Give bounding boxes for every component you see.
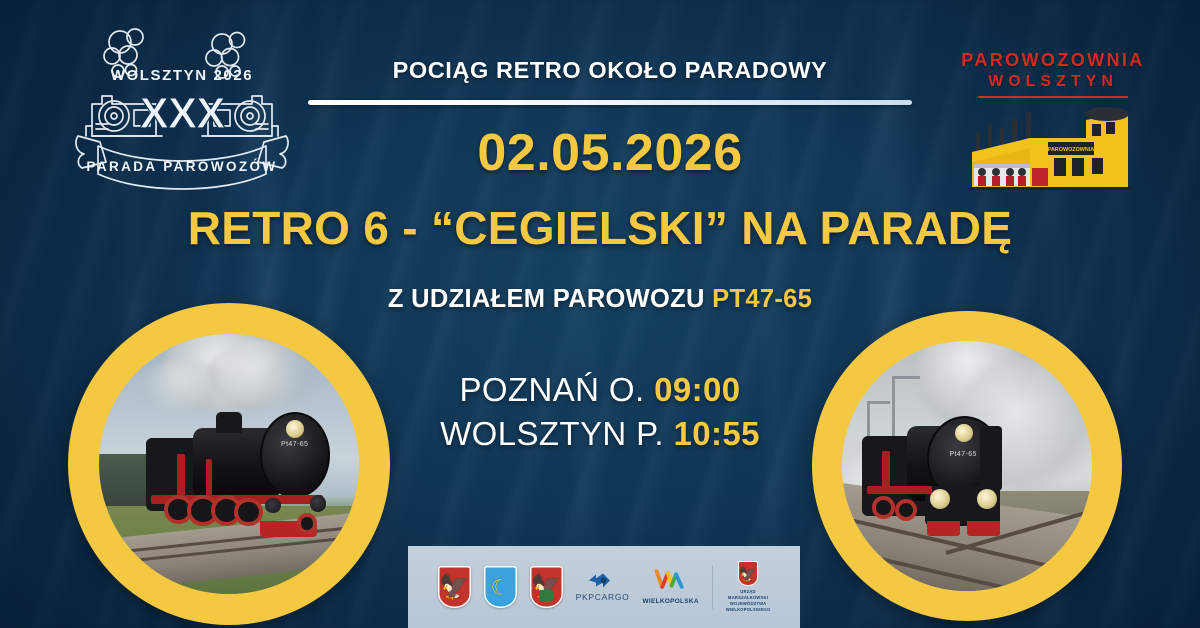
photo-plate: Pt47-65 <box>950 451 977 458</box>
photo-disc: Pt47-65 <box>842 341 1092 591</box>
parade-emblem-logo: WOLSZTYN 2026 XXX PARADA PAROWOZÓW <box>72 24 292 194</box>
poster-kicker: POCIĄG RETRO OKOŁO PARADOWY <box>300 58 920 84</box>
pkp-cargo-label: PKPCARGO <box>576 592 630 602</box>
emblem-roman-numeral: XXX <box>139 89 225 138</box>
sponsor-pkp-cargo: PKPCARGO <box>576 572 630 602</box>
shield-icon: ☾ <box>484 566 517 608</box>
timetable-time: 10:55 <box>674 415 760 452</box>
shield-icon: 🦅 <box>738 561 758 586</box>
sponsor-divider <box>712 565 713 609</box>
emblem-year-text: WOLSZTYN 2026 <box>111 67 254 84</box>
header-divider <box>308 100 912 105</box>
parowozownia-underline <box>978 96 1128 98</box>
pkp-cargo-icon <box>588 572 618 589</box>
photo-disc: Pt47-65 <box>99 334 359 594</box>
sponsor-herb-powiatu: 🦅 <box>530 566 563 608</box>
urzad-label: URZĄD MARSZAŁKOWSKI WOJEWÓDZTWA WIELKOPO… <box>726 589 770 614</box>
sponsor-herb-maryjny: ☾ <box>484 566 517 608</box>
eagle-icon: 🦅 <box>739 567 756 581</box>
eagle-icon: 🦅 <box>439 576 469 600</box>
timetable-station: WOLSZTYN P. <box>440 415 664 452</box>
photo-locomotive-front: Pt47-65 <box>812 311 1122 621</box>
subtitle-prefix: Z UDZIAŁEM PAROWOZU <box>388 285 712 313</box>
svg-text:PAROWOZOWNIA: PAROWOZOWNIA <box>1048 147 1094 153</box>
emblem-banner-text: PARADA PAROWOZÓW <box>86 159 277 174</box>
header-block: POCIĄG RETRO OKOŁO PARADOWY 02.05.2026 <box>300 58 920 179</box>
wielkopolska-icon <box>654 569 688 596</box>
timetable-time: 09:00 <box>654 371 740 408</box>
page-title: RETRO 6 - “CEGIELSKI” NA PARADĘ <box>0 203 1200 254</box>
roundhouse-icon: PAROWOZOWNIA <box>958 102 1148 194</box>
parowozownia-subtitle: WOLSZTYN <box>958 73 1148 91</box>
photo-scene: Pt47-65 <box>842 341 1092 591</box>
shield-icon: 🦅 <box>438 566 471 608</box>
parowozownia-title: PAROWOZOWNIA <box>958 50 1148 71</box>
parowozownia-wolsztyn-logo: PAROWOZOWNIA WOLSZTYN <box>958 50 1148 195</box>
urzad-label-line4: WIELKOPOLSKIEGO <box>726 607 770 613</box>
event-date: 02.05.2026 <box>300 127 920 179</box>
sponsor-wielkopolska: WIELKOPOLSKA <box>642 569 698 605</box>
eagle-icon: 🦅 <box>531 576 561 600</box>
sponsor-herb-wielkopolski: 🦅 <box>438 566 471 608</box>
locomotive-number: PT47-65 <box>712 285 812 313</box>
shield-icon: 🦅 <box>530 566 563 608</box>
photo-plate: Pt47-65 <box>281 441 308 448</box>
wielkopolska-label: WIELKOPOLSKA <box>642 598 698 605</box>
photo-scene: Pt47-65 <box>99 334 359 594</box>
photo-locomotive-side: Pt47-65 <box>68 303 390 625</box>
poster-root: WOLSZTYN 2026 XXX PARADA PAROWOZÓW PAROW… <box>0 0 1200 628</box>
sponsor-urzad-marszalkowski: 🦅 URZĄD MARSZAŁKOWSKI WOJEWÓDZTWA WIELKO… <box>726 561 770 614</box>
timetable-station: POZNAŃ O. <box>459 371 644 408</box>
madonna-icon: ☾ <box>491 577 510 598</box>
sponsor-bar: 🦅 ☾ 🦅 PKPCARGO <box>408 546 800 628</box>
